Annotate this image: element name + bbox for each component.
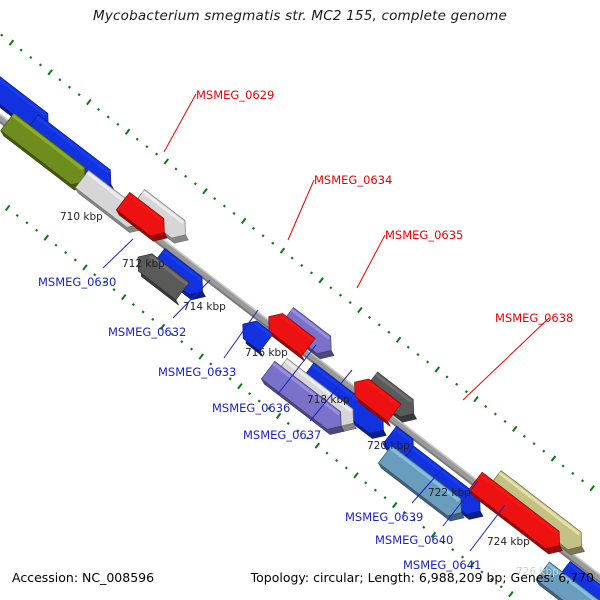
ruler-tick-label: 724 kbp bbox=[487, 536, 530, 548]
ruler-tick-label: 722 kbp bbox=[428, 487, 471, 499]
ruler-tick-label: 716 kbp bbox=[245, 347, 288, 359]
ruler-tick-label: 720 kbp bbox=[367, 440, 410, 452]
ruler-tick-label: 712 kbp bbox=[122, 258, 165, 270]
ruler-tick-label: 710 kbp bbox=[60, 211, 103, 223]
gene-label-msmeg_0638[interactable]: MSMEG_0638 bbox=[495, 311, 573, 325]
gene-label-msmeg_0629[interactable]: MSMEG_0629 bbox=[196, 88, 274, 102]
gene-label-msmeg_0639[interactable]: MSMEG_0639 bbox=[345, 510, 423, 524]
gene-label-msmeg_0636[interactable]: MSMEG_0636 bbox=[212, 401, 290, 415]
genome-map-canvas[interactable] bbox=[0, 0, 600, 600]
gene-label-msmeg_0634[interactable]: MSMEG_0634 bbox=[314, 173, 392, 187]
accession-text: Accession: NC_008596 bbox=[12, 570, 154, 585]
ruler-tick-label: 714 kbp bbox=[183, 301, 226, 313]
topology-text: Topology: circular; Length: 6,988,209 bp… bbox=[251, 570, 594, 585]
gene-label-msmeg_0640[interactable]: MSMEG_0640 bbox=[375, 533, 453, 547]
gene-label-msmeg_0637[interactable]: MSMEG_0637 bbox=[243, 428, 321, 442]
ruler-tick-label: 718 kbp bbox=[307, 394, 350, 406]
gene-label-msmeg_0633[interactable]: MSMEG_0633 bbox=[158, 365, 236, 379]
genome-viewer: Mycobacterium smegmatis str. MC2 155, co… bbox=[0, 0, 600, 600]
gene-label-msmeg_0632[interactable]: MSMEG_0632 bbox=[108, 325, 186, 339]
gene-label-msmeg_0630[interactable]: MSMEG_0630 bbox=[38, 275, 116, 289]
gene-feature-track[interactable] bbox=[0, 65, 600, 600]
gene-label-msmeg_0635[interactable]: MSMEG_0635 bbox=[385, 228, 463, 242]
